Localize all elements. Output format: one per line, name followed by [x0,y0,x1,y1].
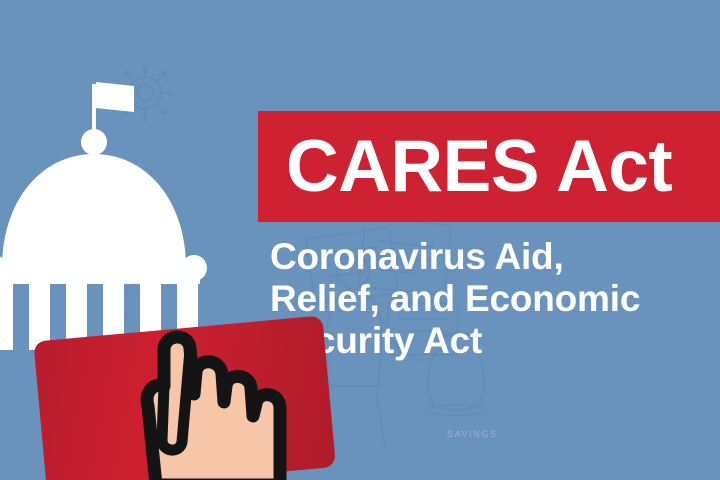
cares-act-graphic: SAVINGS [0,0,720,480]
subtitle-line-1: Coronavirus Aid, [270,236,720,278]
subtitle-line-2: Relief, and Economic [270,278,720,320]
page-title: CARES Act [286,130,672,203]
savings-watermark-label: SAVINGS [447,429,498,439]
pointing-hand-icon [104,320,294,480]
subtitle: Coronavirus Aid, Relief, and Economic Se… [270,236,720,363]
capitol-building-icon [0,72,218,350]
subtitle-line-3: Security Act [270,320,720,362]
title-banner: CARES Act [258,111,720,222]
